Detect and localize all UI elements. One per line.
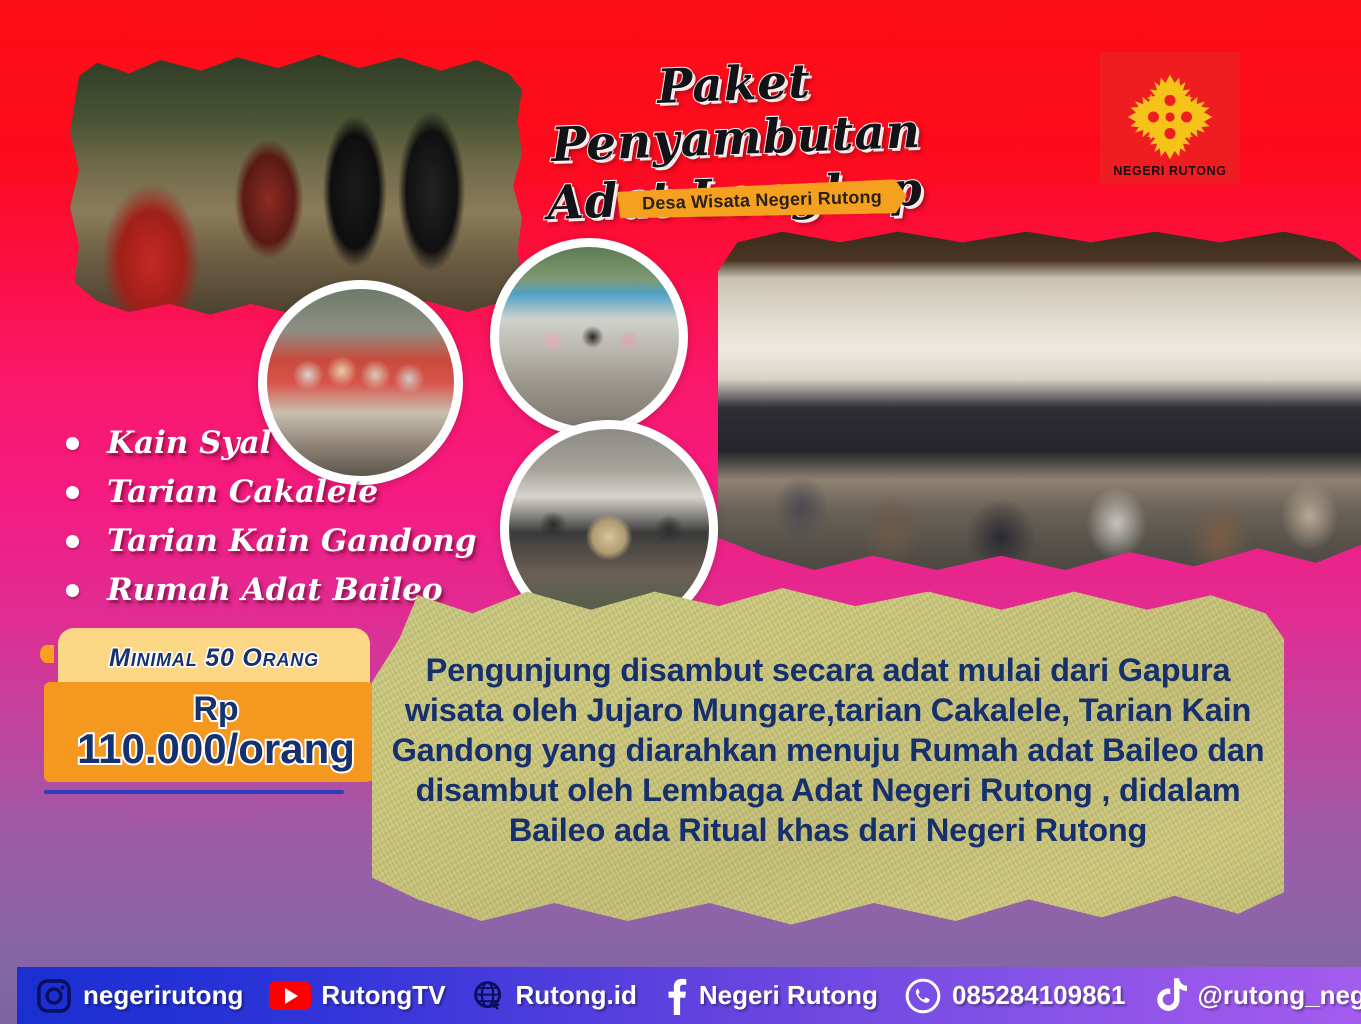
price-badge: Rp 110.000/orang — [44, 682, 388, 782]
footer-item-youtube[interactable]: RutongTV — [269, 980, 445, 1011]
list-item: Rumah Adat Baileo — [66, 572, 536, 608]
youtube-channel: RutongTV — [321, 980, 445, 1011]
instagram-handle: negerirutong — [83, 980, 243, 1011]
footer-item-website[interactable]: Rutong.id — [472, 979, 637, 1013]
description-text: Pengunjung disambut secara adat mulai da… — [388, 650, 1268, 850]
list-item: Tarian Kain Gandong — [66, 523, 536, 559]
tiktok-icon — [1151, 976, 1187, 1016]
ornament-cross-icon — [1123, 71, 1217, 163]
price-currency-label: Rp — [193, 692, 238, 726]
instagram-icon — [35, 977, 73, 1015]
subtitle-banner: Desa Wisata Negeri Rutong — [617, 179, 908, 221]
bullet-dot-icon — [66, 535, 79, 548]
feature-label: Tarian Cakalele — [107, 474, 378, 510]
footer-item-facebook[interactable]: Negeri Rutong — [663, 977, 878, 1015]
badge-decoration-chip — [40, 645, 54, 663]
footer-item-tiktok[interactable]: @rutong_neger — [1151, 976, 1361, 1016]
tiktok-handle: @rutong_neger — [1197, 980, 1361, 1011]
photo-baileo-ceremony — [718, 228, 1361, 588]
whatsapp-icon — [904, 977, 942, 1015]
logo-negeri-rutong: NEGERI RUTONG — [1100, 52, 1240, 184]
footer-item-instagram[interactable]: negerirutong — [35, 977, 243, 1015]
bullet-dot-icon — [66, 437, 79, 450]
list-item: Kain Syal — [66, 425, 536, 461]
minimum-people-badge: Minimal 50 Orang — [58, 628, 370, 688]
facebook-icon — [663, 977, 689, 1015]
facebook-page: Negeri Rutong — [699, 980, 878, 1011]
social-footer-bar: negerirutong RutongTV Rutong.id Negeri R… — [17, 967, 1361, 1024]
logo-label: NEGERI RUTONG — [1113, 164, 1226, 178]
feature-label: Kain Syal — [107, 425, 271, 461]
minimum-people-label: Minimal 50 Orang — [109, 644, 319, 673]
feature-label: Tarian Kain Gandong — [107, 523, 477, 559]
whatsapp-number: 085284109861 — [952, 980, 1126, 1011]
bullet-dot-icon — [66, 486, 79, 499]
youtube-icon — [269, 981, 311, 1010]
globe-icon — [472, 979, 506, 1013]
bullet-dot-icon — [66, 584, 79, 597]
photo-circle-village-procession — [490, 238, 688, 436]
feature-list: Kain Syal Tarian Cakalele Tarian Kain Ga… — [66, 425, 536, 621]
subtitle-text: Desa Wisata Negeri Rutong — [642, 186, 882, 214]
photo-elders-traditional-dress — [70, 52, 522, 320]
feature-label: Rumah Adat Baileo — [107, 572, 443, 608]
promotional-poster: Paket Penyambutan Adat Lengkap Desa Wisa… — [0, 0, 1361, 1024]
decorative-rule — [44, 790, 344, 794]
title-line-1: Paket Penyambutan — [498, 49, 972, 175]
list-item: Tarian Cakalele — [66, 474, 536, 510]
website-label: Rutong.id — [516, 980, 637, 1011]
footer-item-whatsapp[interactable]: 085284109861 — [904, 977, 1126, 1015]
price-amount-label: 110.000/orang — [77, 726, 355, 772]
